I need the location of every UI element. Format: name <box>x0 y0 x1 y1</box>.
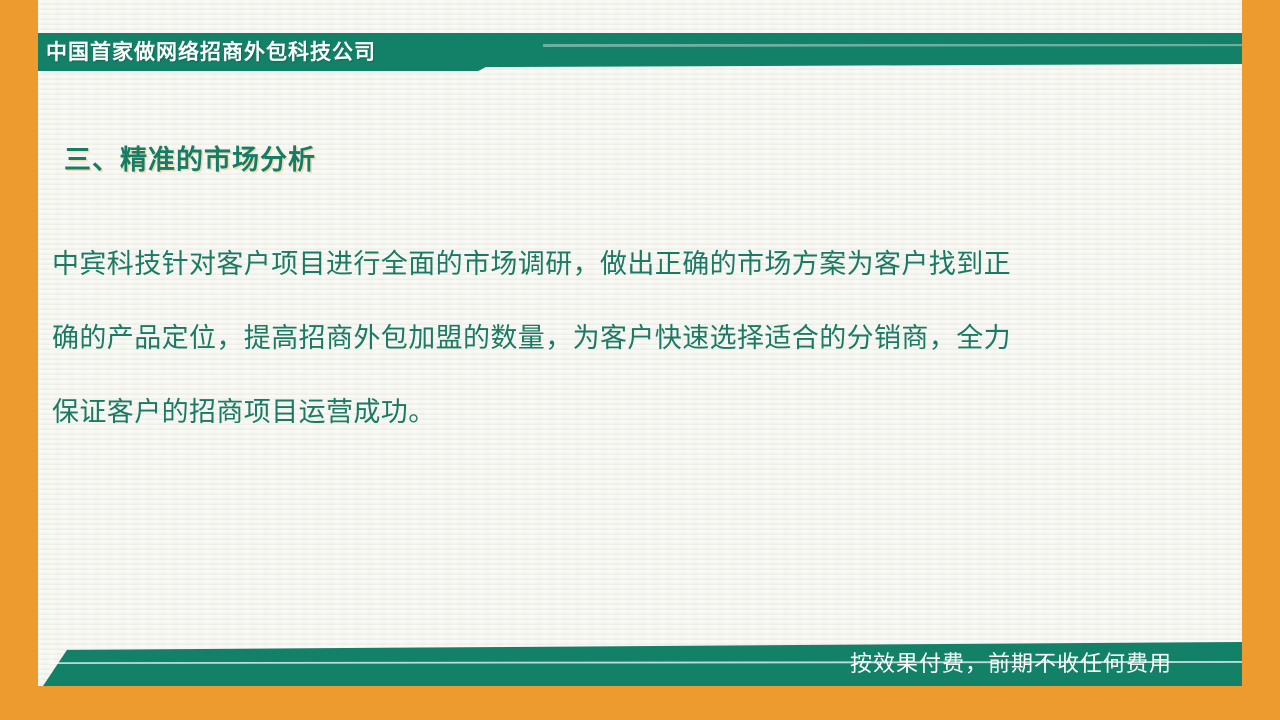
body-paragraph: 中宾科技针对客户项目进行全面的市场调研，做出正确的市场方案为客户找到正 确的产品… <box>52 228 1182 450</box>
body-paragraph-line: 确的产品定位，提高招商外包加盟的数量，为客户快速选择适合的分销商，全力 <box>52 302 1182 376</box>
section-heading: 三、精准的市场分析 <box>64 138 316 177</box>
footer-tagline: 按效果付费，前期不收任何费用 <box>850 648 1172 680</box>
body-paragraph-line: 保证客户的招商项目运营成功。 <box>52 376 1182 450</box>
presentation-slide: 中国首家做网络招商外包科技公司 三、精准的市场分析 中宾科技针对客户项目进行全面… <box>0 0 1280 720</box>
header-banner-title: 中国首家做网络招商外包科技公司 <box>46 36 506 69</box>
body-paragraph-line: 中宾科技针对客户项目进行全面的市场调研，做出正确的市场方案为客户找到正 <box>52 228 1182 302</box>
